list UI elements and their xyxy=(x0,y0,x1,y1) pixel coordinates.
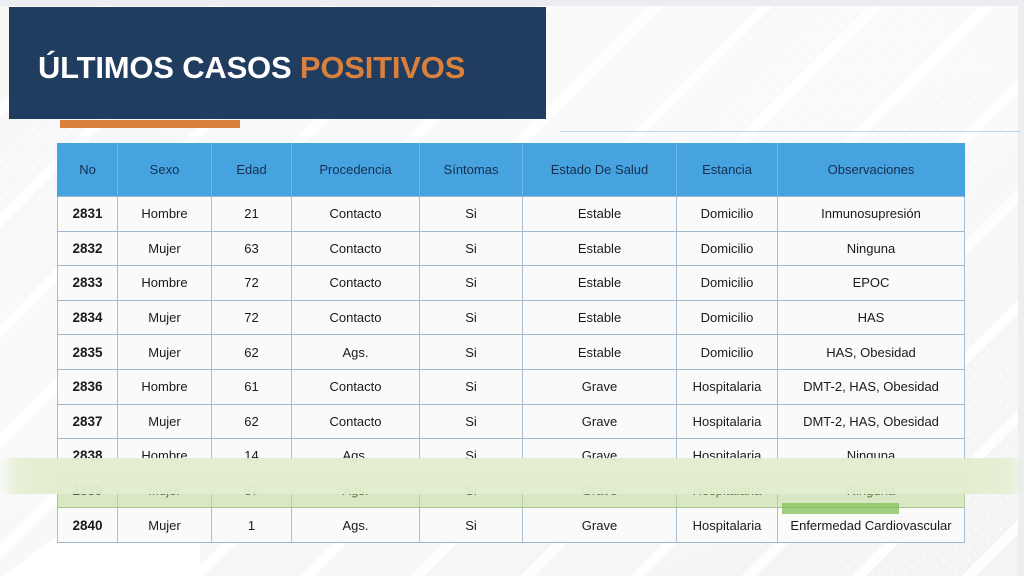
column-header-edad[interactable]: Edad xyxy=(212,143,292,197)
cell-estado-salud: Estable xyxy=(523,231,677,266)
cell-edad: 62 xyxy=(212,404,292,439)
page-title-primary: ÚLTIMOS CASOS xyxy=(38,50,291,85)
table-row[interactable]: 2831Hombre21ContactoSiEstableDomicilioIn… xyxy=(58,197,965,232)
cell-edad: 37 xyxy=(212,473,292,508)
cell-sexo: Hombre xyxy=(118,369,212,404)
cell-estancia: Domicilio xyxy=(677,266,778,301)
cell-estado-salud: Grave xyxy=(523,473,677,508)
cell-estancia: Domicilio xyxy=(677,197,778,232)
table-row[interactable]: 2835Mujer62Ags.SiEstableDomicilioHAS, Ob… xyxy=(58,335,965,370)
slide-right-edge xyxy=(1018,0,1024,576)
page-title-space xyxy=(291,50,299,85)
column-header-no[interactable]: No xyxy=(58,143,118,197)
cell-procedencia: Contacto xyxy=(292,231,420,266)
cell-edad: 62 xyxy=(212,335,292,370)
cell-edad: 1 xyxy=(212,508,292,543)
table-row[interactable]: 2833Hombre72ContactoSiEstableDomicilioEP… xyxy=(58,266,965,301)
cell-sexo: Mujer xyxy=(118,508,212,543)
cell-sintomas: Si xyxy=(420,369,523,404)
table-row[interactable]: 2832Mujer63ContactoSiEstableDomicilioNin… xyxy=(58,231,965,266)
cell-estado-salud: Estable xyxy=(523,197,677,232)
cell-sintomas: Si xyxy=(420,197,523,232)
cell-sintomas: Si xyxy=(420,439,523,474)
cell-no: 2832 xyxy=(58,231,118,266)
column-header-observaciones[interactable]: Observaciones xyxy=(778,143,965,197)
table-header-row: No Sexo Edad Procedencia Síntomas Estado… xyxy=(58,143,965,197)
table-row[interactable]: 2839Mujer37Ags.SiGraveHospitalariaNingun… xyxy=(58,473,965,508)
background-blue-accent-line xyxy=(560,131,1020,132)
cases-table-container: No Sexo Edad Procedencia Síntomas Estado… xyxy=(57,143,964,543)
cell-procedencia: Contacto xyxy=(292,300,420,335)
cell-sexo: Mujer xyxy=(118,473,212,508)
cell-estancia: Hospitalaria xyxy=(677,404,778,439)
cell-edad: 63 xyxy=(212,231,292,266)
table-row[interactable]: 2837Mujer62ContactoSiGraveHospitalariaDM… xyxy=(58,404,965,439)
cell-estancia: Hospitalaria xyxy=(677,369,778,404)
cell-estancia: Hospitalaria xyxy=(677,508,778,543)
cell-no: 2833 xyxy=(58,266,118,301)
cell-no: 2840 xyxy=(58,508,118,543)
cell-estancia: Hospitalaria xyxy=(677,439,778,474)
cell-sexo: Hombre xyxy=(118,266,212,301)
cell-edad: 72 xyxy=(212,300,292,335)
cell-estado-salud: Grave xyxy=(523,369,677,404)
column-header-sintomas[interactable]: Síntomas xyxy=(420,143,523,197)
cell-estancia: Domicilio xyxy=(677,335,778,370)
cell-edad: 21 xyxy=(212,197,292,232)
slide-top-edge xyxy=(0,0,1024,6)
cell-estancia: Domicilio xyxy=(677,300,778,335)
cell-sintomas: Si xyxy=(420,266,523,301)
column-header-procedencia[interactable]: Procedencia xyxy=(292,143,420,197)
column-header-sexo[interactable]: Sexo xyxy=(118,143,212,197)
cell-sintomas: Si xyxy=(420,300,523,335)
cell-no: 2835 xyxy=(58,335,118,370)
cell-estado-salud: Estable xyxy=(523,300,677,335)
cell-observaciones: HAS xyxy=(778,300,965,335)
cell-sexo: Mujer xyxy=(118,300,212,335)
cell-sexo: Mujer xyxy=(118,404,212,439)
cell-no: 2836 xyxy=(58,369,118,404)
cell-observaciones: Inmunosupresión xyxy=(778,197,965,232)
cell-procedencia: Ags. xyxy=(292,473,420,508)
cell-procedencia: Contacto xyxy=(292,197,420,232)
column-header-estancia[interactable]: Estancia xyxy=(677,143,778,197)
cell-estado-salud: Grave xyxy=(523,439,677,474)
cell-procedencia: Ags. xyxy=(292,508,420,543)
cell-edad: 72 xyxy=(212,266,292,301)
cell-edad: 61 xyxy=(212,369,292,404)
cell-no: 2837 xyxy=(58,404,118,439)
title-banner: ÚLTIMOS CASOS POSITIVOS xyxy=(9,7,546,119)
column-header-estado-salud[interactable]: Estado De Salud xyxy=(523,143,677,197)
cases-table-body: 2831Hombre21ContactoSiEstableDomicilioIn… xyxy=(58,197,965,543)
cell-estado-salud: Estable xyxy=(523,335,677,370)
cell-procedencia: Ags. xyxy=(292,335,420,370)
slide-canvas: ÚLTIMOS CASOS POSITIVOS No Sexo Edad Pro… xyxy=(0,0,1024,576)
table-row[interactable]: 2840Mujer1Ags.SiGraveHospitalariaEnferme… xyxy=(58,508,965,543)
cell-procedencia: Contacto xyxy=(292,369,420,404)
cell-observaciones: Enfermedad Cardiovascular xyxy=(778,508,965,543)
cell-sintomas: Si xyxy=(420,335,523,370)
cell-procedencia: Ags. xyxy=(292,439,420,474)
cell-observaciones: DMT-2, HAS, Obesidad xyxy=(778,369,965,404)
cases-table: No Sexo Edad Procedencia Síntomas Estado… xyxy=(57,143,965,543)
cell-sexo: Hombre xyxy=(118,439,212,474)
cell-sintomas: Si xyxy=(420,404,523,439)
cell-observaciones: DMT-2, HAS, Obesidad xyxy=(778,404,965,439)
cell-sexo: Mujer xyxy=(118,231,212,266)
cell-no: 2838 xyxy=(58,439,118,474)
cell-observaciones: EPOC xyxy=(778,266,965,301)
cell-sintomas: Si xyxy=(420,231,523,266)
cell-sintomas: Si xyxy=(420,473,523,508)
cell-estado-salud: Grave xyxy=(523,404,677,439)
cell-estancia: Hospitalaria xyxy=(677,473,778,508)
cell-edad: 14 xyxy=(212,439,292,474)
page-title: ÚLTIMOS CASOS POSITIVOS xyxy=(38,50,465,86)
cell-no: 2831 xyxy=(58,197,118,232)
cell-observaciones: Ninguna xyxy=(778,439,965,474)
cell-sintomas: Si xyxy=(420,508,523,543)
cell-procedencia: Contacto xyxy=(292,404,420,439)
cell-no: 2834 xyxy=(58,300,118,335)
cell-observaciones: Ninguna xyxy=(778,473,965,508)
cell-estado-salud: Estable xyxy=(523,266,677,301)
table-row[interactable]: 2836Hombre61ContactoSiGraveHospitalariaD… xyxy=(58,369,965,404)
cell-procedencia: Contacto xyxy=(292,266,420,301)
cell-observaciones: HAS, Obesidad xyxy=(778,335,965,370)
title-accent-underline xyxy=(60,120,240,128)
cell-no: 2839 xyxy=(58,473,118,508)
table-row[interactable]: 2834Mujer72ContactoSiEstableDomicilioHAS xyxy=(58,300,965,335)
table-row[interactable]: 2838Hombre14Ags.SiGraveHospitalariaNingu… xyxy=(58,439,965,474)
cell-estado-salud: Grave xyxy=(523,508,677,543)
cell-observaciones: Ninguna xyxy=(778,231,965,266)
cell-estancia: Domicilio xyxy=(677,231,778,266)
page-title-accent: POSITIVOS xyxy=(300,50,465,85)
cell-sexo: Mujer xyxy=(118,335,212,370)
cell-sexo: Hombre xyxy=(118,197,212,232)
